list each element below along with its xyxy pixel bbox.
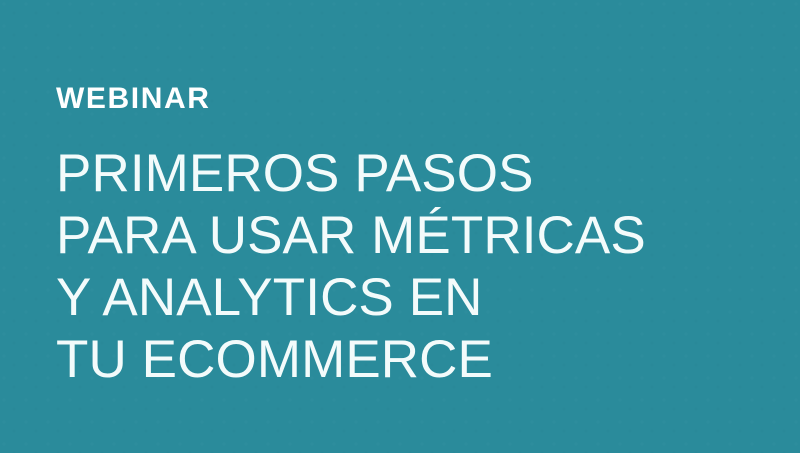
webinar-banner: WEBINAR PRIMEROS PASOS PARA USAR MÉTRICA… bbox=[0, 0, 800, 453]
headline-line-4: TU ECOMMERCE bbox=[56, 329, 646, 391]
page-title: PRIMEROS PASOS PARA USAR MÉTRICAS Y ANAL… bbox=[56, 143, 646, 391]
headline-line-3: Y ANALYTICS EN bbox=[56, 267, 646, 329]
banner-content: WEBINAR PRIMEROS PASOS PARA USAR MÉTRICA… bbox=[56, 0, 800, 453]
headline-line-1: PRIMEROS PASOS bbox=[56, 143, 646, 205]
headline-line-2: PARA USAR MÉTRICAS bbox=[56, 205, 646, 267]
eyebrow-label: WEBINAR bbox=[56, 84, 211, 114]
